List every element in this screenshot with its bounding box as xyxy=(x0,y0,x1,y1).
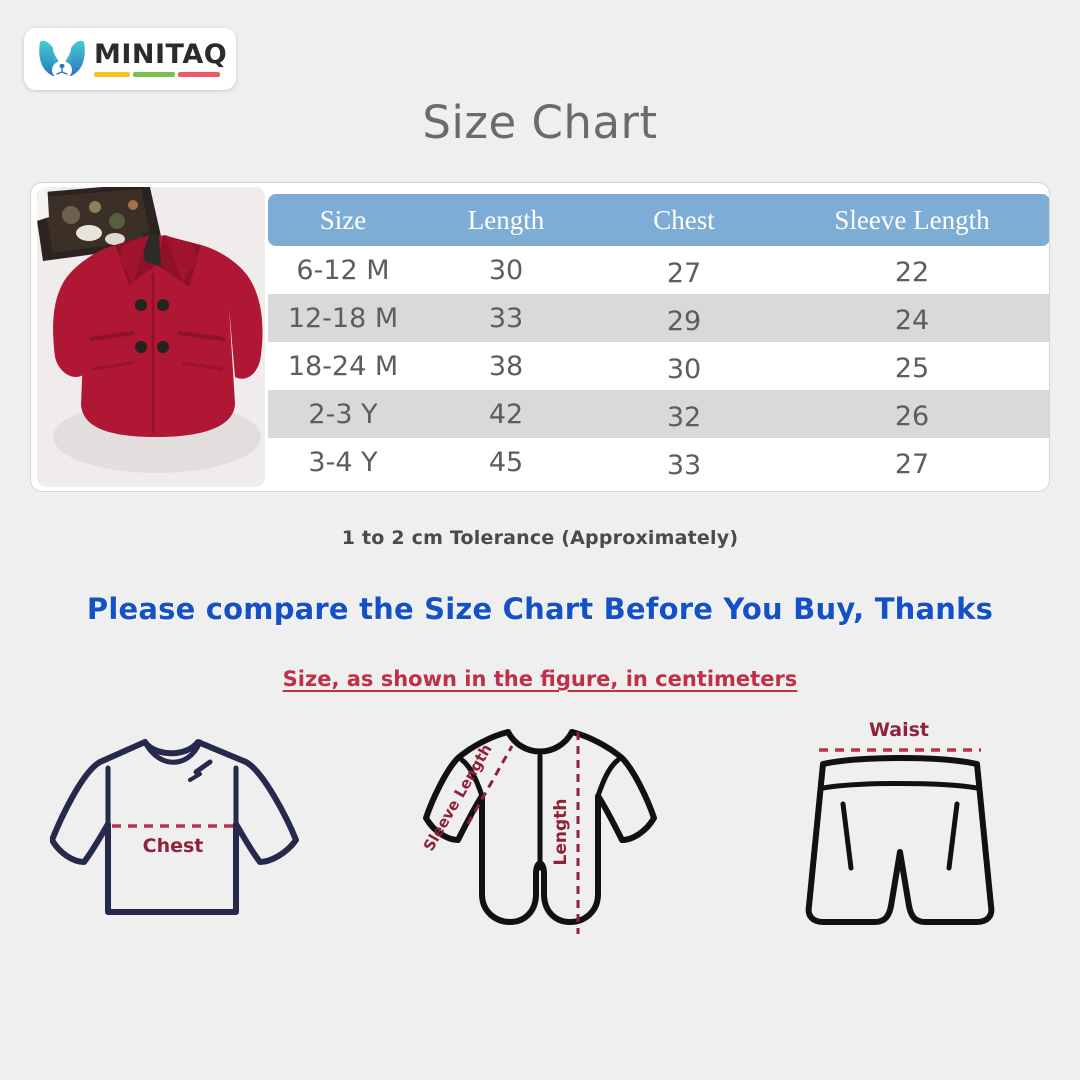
cell-chest: 33 xyxy=(594,444,774,481)
figure-shorts: Waist xyxy=(720,716,1080,1016)
cell-length: 38 xyxy=(418,350,594,382)
cell-chest: 32 xyxy=(594,396,774,433)
unit-note: Size, as shown in the figure, in centime… xyxy=(0,667,1080,691)
column-header-length: Length xyxy=(418,205,594,236)
cell-chest: 30 xyxy=(594,348,774,385)
rabbit-logo-icon xyxy=(36,38,88,80)
cell-size: 3-4 Y xyxy=(268,447,418,478)
cell-sleeve-length: 25 xyxy=(774,348,1050,384)
shorts-figure-icon: Waist xyxy=(775,716,1025,946)
column-header-size: Size xyxy=(268,205,418,236)
product-photo xyxy=(37,187,265,487)
size-chart-card: Size Length Chest Sleeve Length 6-12 M 3… xyxy=(30,182,1050,492)
cell-size: 6-12 M xyxy=(268,255,418,286)
table-row: 18-24 M 38 30 25 xyxy=(268,342,1050,390)
tshirt-figure-icon: Chest xyxy=(50,716,310,946)
brand-bar-yellow xyxy=(94,72,130,77)
figure-label-waist: Waist xyxy=(869,719,929,741)
table-row: 3-4 Y 45 33 27 xyxy=(268,438,1050,486)
column-header-chest: Chest xyxy=(594,205,774,236)
brand-color-bars xyxy=(94,72,227,77)
cell-length: 30 xyxy=(418,254,594,286)
cell-length: 42 xyxy=(418,398,594,430)
brand-logo-text-wrap: MINITAQ xyxy=(94,41,227,77)
cell-sleeve-length: 24 xyxy=(774,300,1050,336)
brand-bar-green xyxy=(133,72,175,77)
table-row: 12-18 M 33 29 24 xyxy=(268,294,1050,342)
brand-wordmark: MINITAQ xyxy=(94,41,227,68)
table-row: 2-3 Y 42 32 26 xyxy=(268,390,1050,438)
cell-sleeve-length: 26 xyxy=(774,396,1050,432)
measurement-figures: Chest Sleeve Length xyxy=(0,716,1080,1016)
cell-chest: 27 xyxy=(594,252,774,289)
cell-length: 33 xyxy=(418,302,594,334)
cell-chest: 29 xyxy=(594,300,774,337)
column-header-sleeve-length: Sleeve Length xyxy=(774,205,1050,236)
page-title: Size Chart xyxy=(0,96,1080,149)
cell-length: 45 xyxy=(418,446,594,478)
size-table-header-row: Size Length Chest Sleeve Length xyxy=(268,194,1050,246)
figure-label-length: Length xyxy=(551,799,571,866)
figure-romper: Sleeve Length Length xyxy=(360,716,720,1016)
brand-logo-badge: MINITAQ xyxy=(24,28,236,90)
cell-size: 12-18 M xyxy=(268,303,418,334)
cell-size: 2-3 Y xyxy=(268,399,418,430)
cell-sleeve-length: 27 xyxy=(774,444,1050,480)
cell-size: 18-24 M xyxy=(268,351,418,382)
cell-sleeve-length: 22 xyxy=(774,252,1050,288)
size-table-body: 6-12 M 30 27 22 12-18 M 33 29 24 18-24 M… xyxy=(268,246,1050,486)
romper-figure-icon: Sleeve Length Length xyxy=(400,716,680,966)
figure-label-chest: Chest xyxy=(143,835,204,857)
brand-bar-red xyxy=(178,72,220,77)
table-row: 6-12 M 30 27 22 xyxy=(268,246,1050,294)
tolerance-note: 1 to 2 cm Tolerance (Approximately) xyxy=(0,527,1080,549)
product-coat-illustration xyxy=(37,187,265,487)
figure-tshirt: Chest xyxy=(0,716,360,1016)
compare-size-chart-note: Please compare the Size Chart Before You… xyxy=(0,592,1080,626)
size-table: Size Length Chest Sleeve Length 6-12 M 3… xyxy=(268,183,1049,491)
